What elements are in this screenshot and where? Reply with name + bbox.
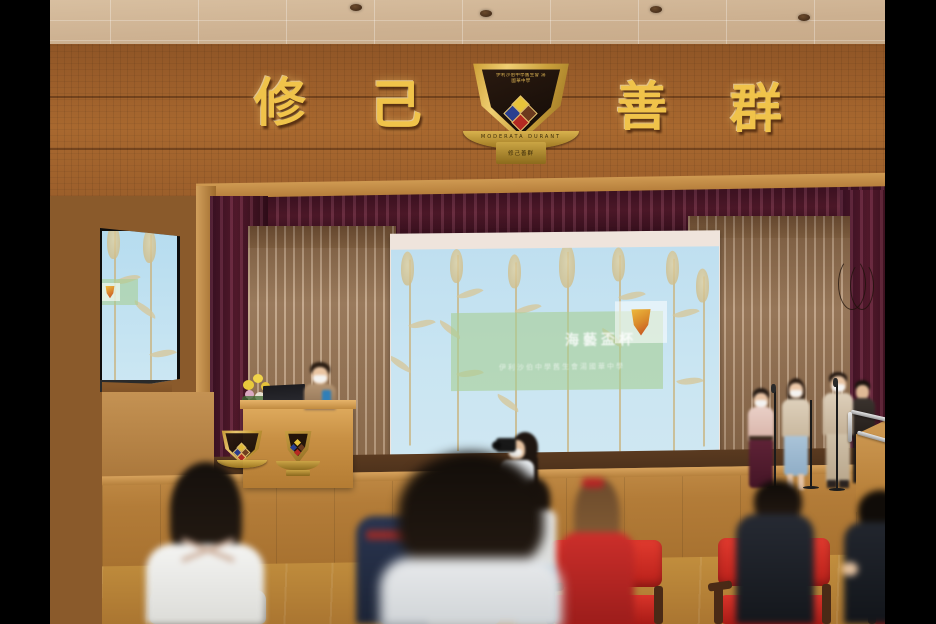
side-wall-monitor — [100, 228, 180, 392]
podium-crest — [276, 430, 320, 476]
audience-member-red-dress — [560, 478, 634, 624]
crest-chinese-text: 伊利沙伯中學舊生會 湯國華中學 — [494, 73, 548, 89]
slide-subtitle: 伊利沙伯中學舊生會湯國華中學 — [467, 361, 657, 373]
side-monitor-screen — [102, 231, 177, 386]
slide-school-logo — [615, 301, 667, 344]
photograph: 修 己 善 群 伊利沙伯中學舊生會 湯國華中學 MODERATA DURANT … — [50, 0, 885, 624]
student-performer-2 — [780, 378, 812, 494]
motto-char-3: 善 — [616, 82, 668, 134]
microphone-stand — [774, 390, 776, 486]
face-mask — [755, 400, 767, 407]
crest-plate-text: 修己善群 — [496, 142, 546, 164]
podium-top — [240, 400, 356, 409]
stage-cable-loop — [850, 262, 874, 310]
handrail-post — [848, 412, 852, 442]
main-projection-screen: 海藝盃杯 伊利沙伯中學舊生會湯國華中學 — [391, 246, 719, 457]
motto-char-2: 己 — [370, 80, 422, 132]
skirt — [784, 436, 808, 476]
head — [856, 385, 869, 399]
downlight — [350, 4, 362, 11]
audience-member-white-top — [140, 462, 270, 624]
face-mask — [790, 390, 802, 397]
microphone-head — [833, 378, 838, 387]
hand — [842, 562, 858, 576]
screenshot-root: 修 己 善 群 伊利沙伯中學舊生會 湯國華中學 MODERATA DURANT … — [0, 0, 936, 624]
downlight — [480, 10, 492, 17]
student-performer-1 — [746, 388, 776, 494]
torso — [736, 514, 814, 624]
crest-ribbon-text: MODERATA DURANT — [463, 134, 579, 140]
motto-char-1: 修 — [254, 78, 306, 130]
microphone-stand — [810, 400, 812, 486]
audience-member-right — [836, 490, 885, 624]
hair-tie — [582, 478, 604, 488]
torso — [146, 544, 264, 624]
camera-lens — [492, 441, 501, 450]
letterbox-right — [885, 0, 936, 624]
downlight — [650, 6, 662, 13]
face-mask — [313, 375, 327, 383]
audience-member-dark-suit — [736, 480, 814, 624]
school-crest: 伊利沙伯中學舊生會 湯國華中學 MODERATA DURANT 修己善群 — [469, 62, 573, 164]
torso — [560, 532, 634, 624]
torso — [782, 399, 810, 437]
microphone-stand — [836, 384, 838, 488]
microphone-head — [771, 384, 776, 393]
letterbox-left — [0, 0, 50, 624]
downlight — [798, 14, 810, 21]
motto-char-4: 群 — [730, 84, 782, 136]
audience-member-blurred-head — [380, 452, 560, 624]
